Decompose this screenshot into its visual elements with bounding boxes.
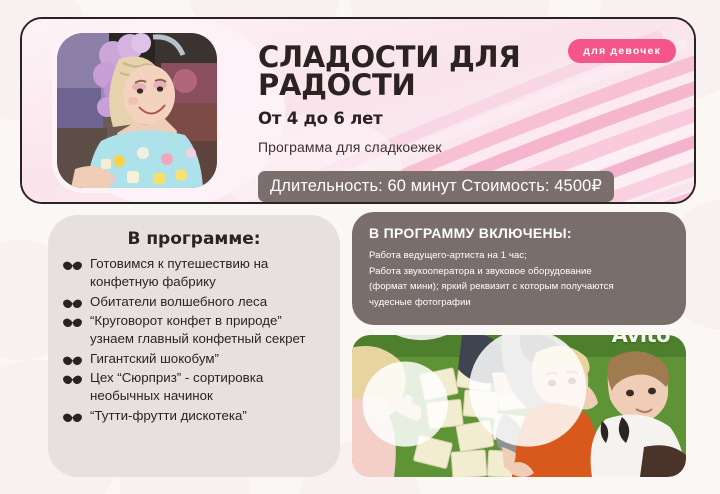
duration-price-banner: Длительность: 60 минут Стоимость: 4500₽ bbox=[258, 171, 614, 202]
header-text-block: СЛАДОСТИ ДЛЯ РАДОСТИ От 4 до 6 лет Прогр… bbox=[258, 43, 682, 155]
list-item-label: Обитатели волшебного леса bbox=[90, 293, 267, 311]
program-card: В программе: Готовимся к путешествию на … bbox=[48, 215, 340, 477]
age-range-label: От 4 до 6 лет bbox=[258, 109, 682, 128]
list-item-label: “Круговорот конфет в природе” узнаем гла… bbox=[90, 312, 326, 349]
program-heading: В программе: bbox=[62, 229, 326, 249]
avito-wordmark: Avito bbox=[612, 335, 670, 347]
avito-dots-logo bbox=[352, 335, 608, 463]
list-item: Обитатели волшебного леса bbox=[62, 293, 326, 311]
page-title: СЛАДОСТИ ДЛЯ РАДОСТИ bbox=[258, 43, 528, 99]
list-item: Готовимся к путешествию на конфетную фаб… bbox=[62, 255, 326, 292]
list-item-label: Готовимся к путешествию на конфетную фаб… bbox=[90, 255, 326, 292]
list-item: Цех “Сюрприз” - сортировка необычных нач… bbox=[62, 369, 326, 406]
list-item-label: “Тутти-фрутти дискотека” bbox=[90, 407, 247, 425]
mustache-icon bbox=[62, 316, 83, 330]
included-line: чудесные фотографии bbox=[369, 295, 670, 311]
mustache-icon bbox=[62, 411, 83, 425]
included-heading: В ПРОГРАММУ ВКЛЮЧЕНЫ: bbox=[369, 225, 670, 241]
mustache-icon bbox=[62, 354, 83, 368]
subtitle-label: Программа для сладкоежек bbox=[258, 139, 682, 155]
kids-activity-photo: Avito bbox=[352, 335, 686, 477]
avito-watermark: Avito bbox=[352, 335, 670, 463]
header-card: для девочек СЛАДОСТИ ДЛЯ РАДОСТИ От 4 до… bbox=[20, 17, 696, 204]
host-portrait-illustration bbox=[57, 33, 217, 188]
list-item-label: Гигантский шокобум” bbox=[90, 350, 219, 368]
list-item: “Тутти-фрутти дискотека” bbox=[62, 407, 326, 425]
mustache-icon bbox=[62, 297, 83, 311]
mustache-icon bbox=[62, 259, 83, 273]
included-line: Работа ведущего-артиста на 1 час; bbox=[369, 248, 670, 264]
included-line: Работа звукооператора и звуковое оборудо… bbox=[369, 264, 670, 280]
list-item: Гигантский шокобум” bbox=[62, 350, 326, 368]
included-line: (формат мини); яркий реквизит с которым … bbox=[369, 279, 670, 295]
list-item: “Круговорот конфет в природе” узнаем гла… bbox=[62, 312, 326, 349]
included-card: В ПРОГРАММУ ВКЛЮЧЕНЫ: Работа ведущего-ар… bbox=[352, 212, 686, 325]
mustache-icon bbox=[62, 373, 83, 387]
host-portrait-photo bbox=[57, 33, 217, 188]
list-item-label: Цех “Сюрприз” - сортировка необычных нач… bbox=[90, 369, 326, 406]
